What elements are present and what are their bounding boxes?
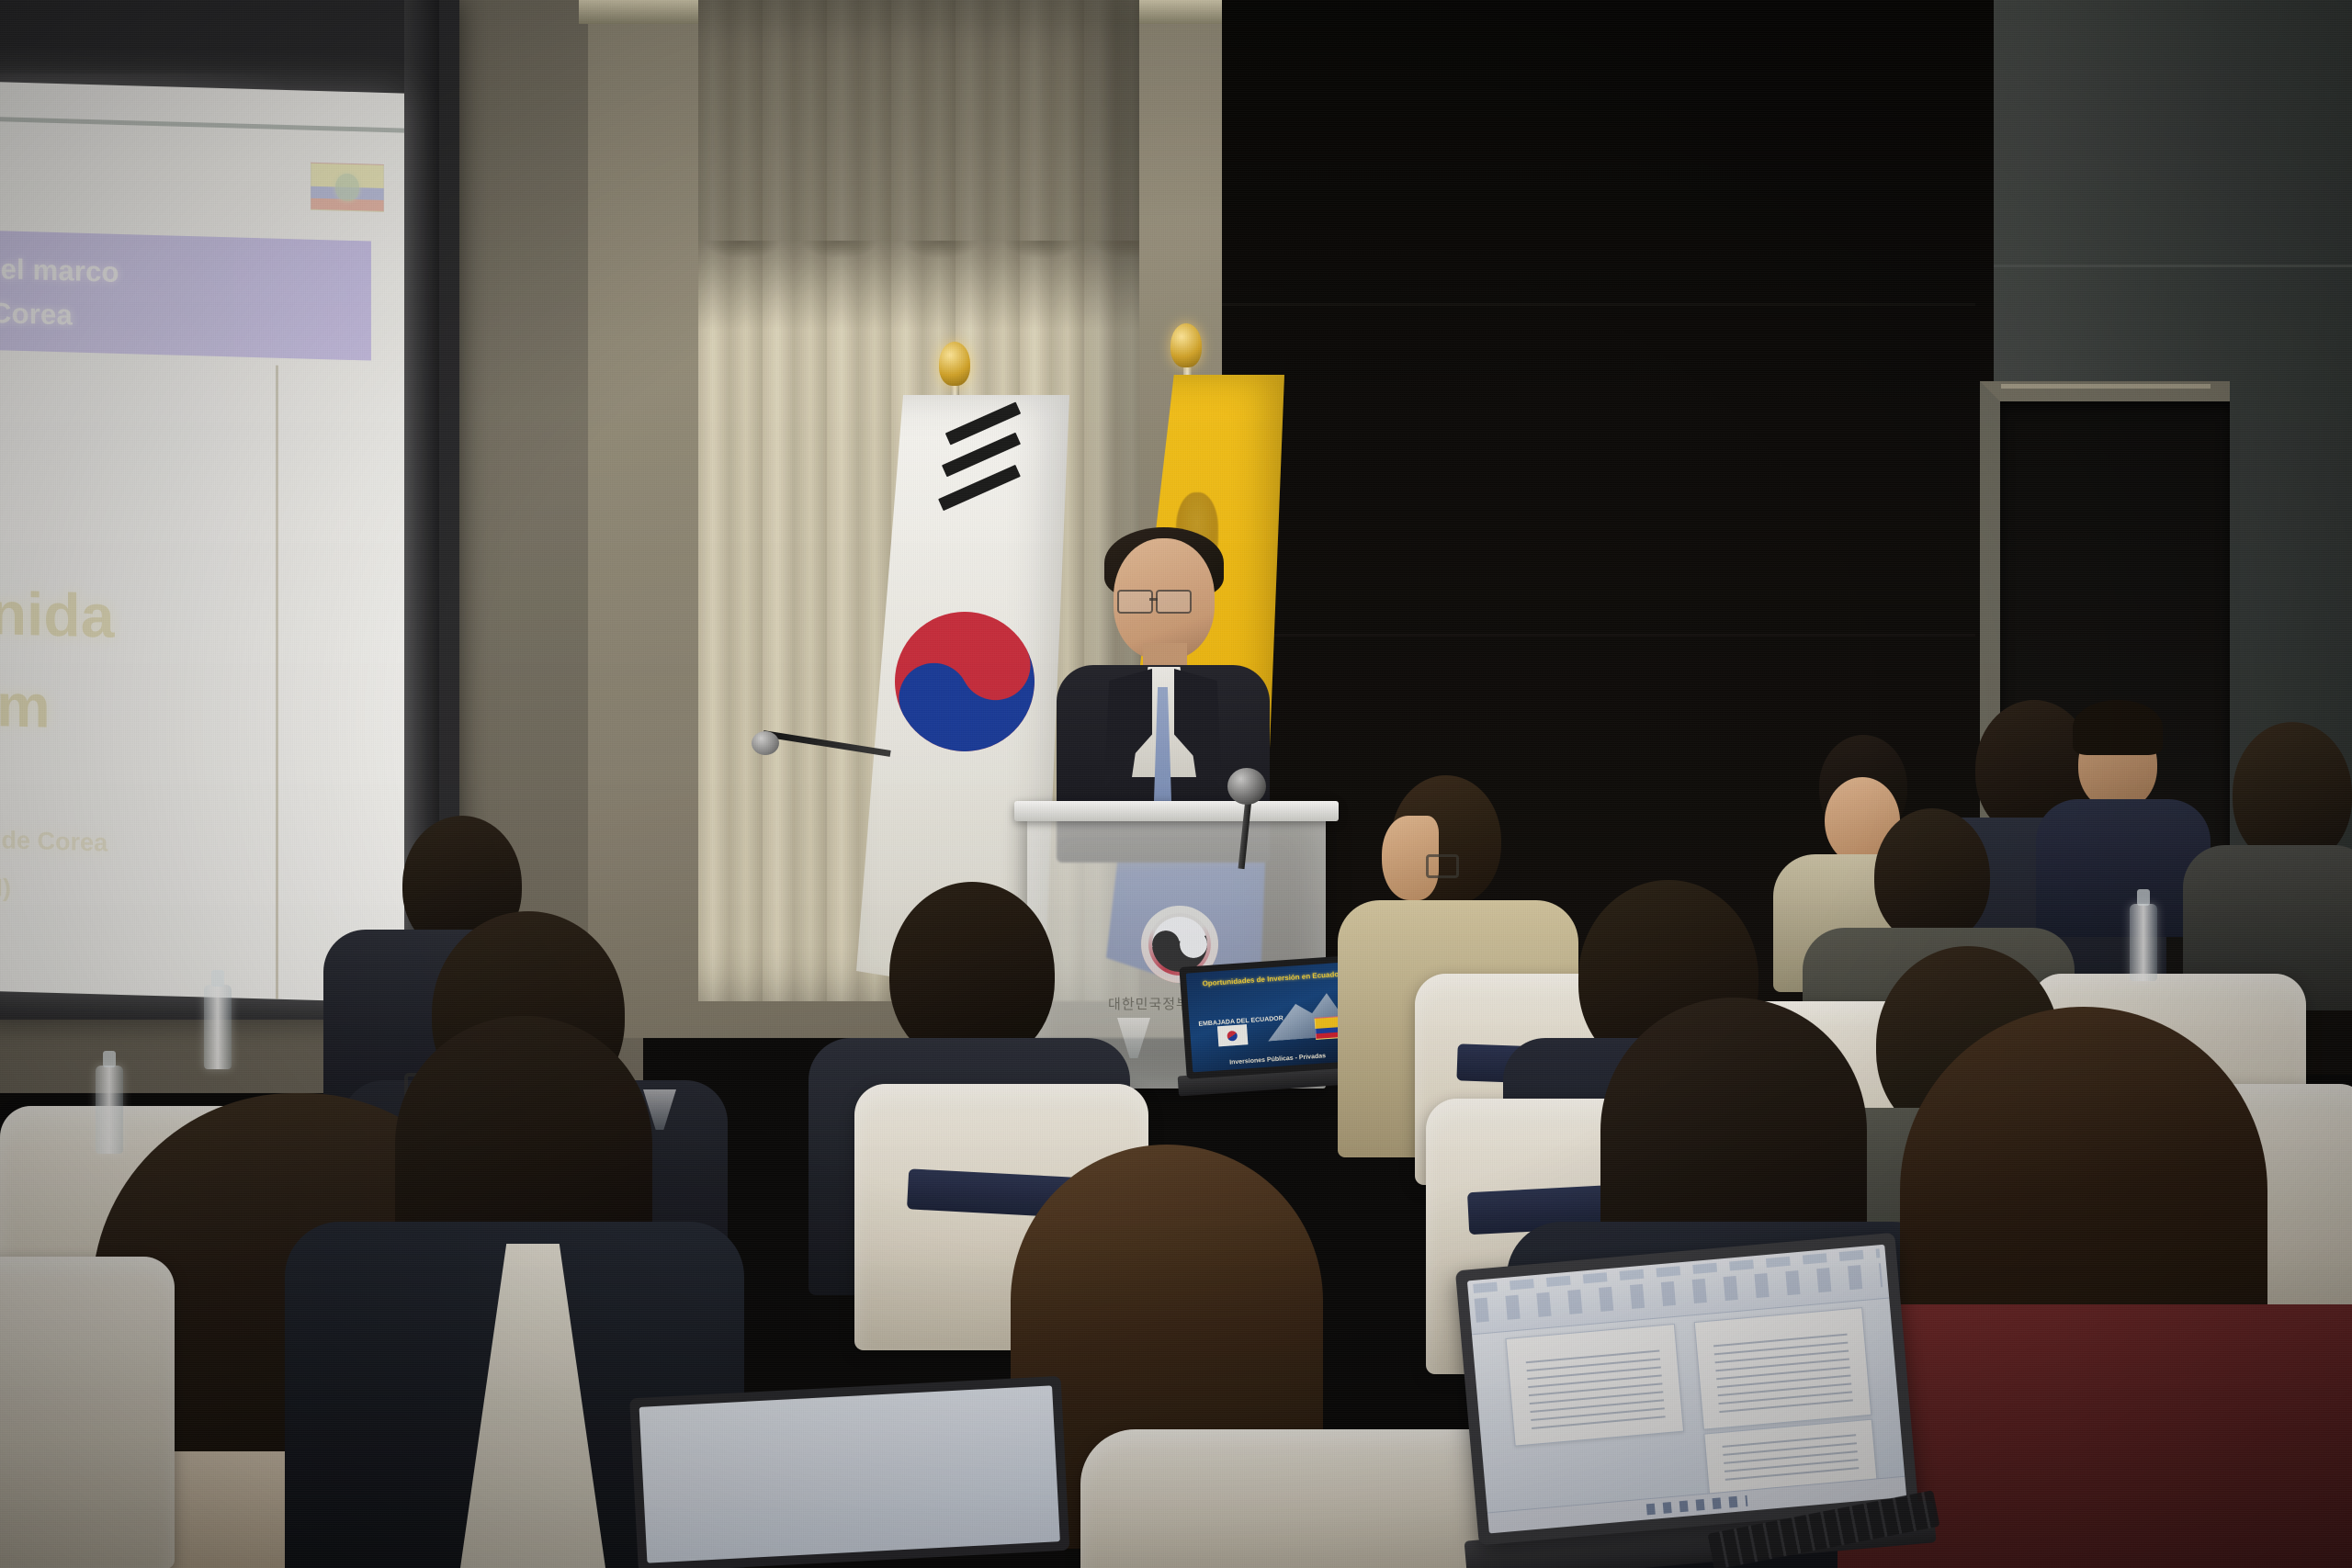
- water-bottle: [204, 985, 232, 1069]
- projection-screen: ...uctura en el marco ...cuador y Corea …: [0, 81, 404, 1002]
- document-text-lines: [1713, 1333, 1853, 1415]
- laptop-lid: [1455, 1233, 1918, 1546]
- attendee-hair: [2073, 700, 2163, 755]
- ecuador-flag-icon: [311, 163, 384, 212]
- document-page: [1693, 1307, 1871, 1430]
- slide-subtext-line-1: ...a Republica de Corea: [0, 821, 349, 864]
- attendee-head: [1874, 808, 1990, 944]
- document-text-lines: [1723, 1434, 1860, 1485]
- document-page: [1506, 1324, 1684, 1447]
- boom-microphone-icon: [752, 731, 779, 755]
- laptop-screen: [639, 1385, 1060, 1562]
- laptop-screen: [1467, 1245, 1906, 1534]
- slide-headline-line-2: ...e Kim: [0, 665, 349, 750]
- conference-photograph: ...uctura en el marco ...cuador y Corea …: [0, 0, 2352, 1568]
- wall-panel-seam: [1994, 265, 2352, 267]
- water-bottle: [96, 1066, 123, 1154]
- slide-rule-top: [0, 116, 404, 132]
- laptop-foreground-left[interactable]: [629, 1376, 1070, 1568]
- slide-title-banner: ...uctura en el marco ...cuador y Corea: [0, 230, 371, 360]
- slide-subtext-line-2: ...e (CARICOM): [0, 869, 349, 912]
- laptop-screen: Oportunidades de Inversión en Ecuador EM…: [1186, 962, 1363, 1073]
- taeguk-symbol-icon: [870, 587, 1059, 776]
- podium-lectern-top: [1014, 801, 1339, 821]
- curtain-shadow: [698, 241, 1139, 288]
- wall-panel-seam: [1222, 634, 1975, 637]
- flagpole-finial-icon: [1170, 323, 1202, 367]
- slide-title-line-2: ...cuador y Corea: [0, 292, 353, 340]
- ecuador-coat-of-arms-icon: [335, 173, 359, 201]
- podium-microphone-icon: [1227, 768, 1266, 805]
- attendee-head: [2233, 722, 2352, 865]
- slide-title: Oportunidades de Inversión en Ecuador: [1192, 969, 1351, 988]
- document-text-lines: [1525, 1349, 1665, 1431]
- slide-headline-line-1: ...nvenida: [0, 573, 349, 658]
- korea-flag-icon: [1217, 1024, 1248, 1046]
- speaker-glasses-left-lens: [1117, 590, 1153, 614]
- speaker-glasses-right-lens: [1156, 590, 1192, 614]
- emblem-swirl-heads: [1152, 930, 1207, 959]
- speaker-glasses-bridge: [1149, 598, 1158, 601]
- taskbar-icons[interactable]: [1646, 1495, 1747, 1515]
- banquet-chair: [0, 1257, 175, 1568]
- laptop-foreground-right[interactable]: [1455, 1233, 1922, 1568]
- wall-panel-seam: [1222, 303, 1975, 306]
- slide-title-line-1: ...uctura en el marco: [0, 248, 353, 296]
- attendee-glasses-icon: [1426, 854, 1459, 878]
- water-bottle: [2130, 904, 2157, 981]
- laptop-lid: [629, 1376, 1069, 1568]
- doorway-highlight: [2001, 384, 2211, 389]
- flagpole-finial-icon: [939, 342, 970, 386]
